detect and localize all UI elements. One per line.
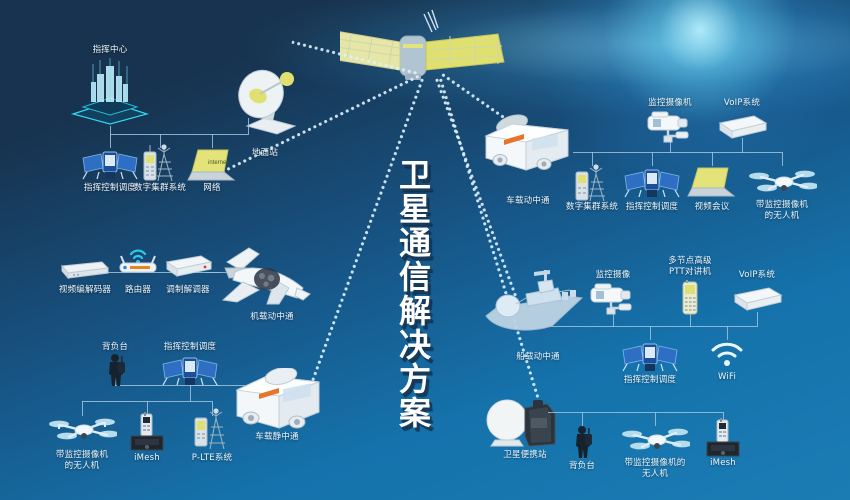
label-voip-mr: VoIP系统 bbox=[739, 270, 775, 281]
label-control-console-mr: 指挥控制调度 bbox=[624, 375, 676, 386]
cctv-camera-icon bbox=[642, 110, 698, 148]
label-control-console-tr: 指挥控制调度 bbox=[626, 202, 678, 213]
connector-tr-n3 bbox=[712, 152, 713, 166]
label-trunking-tr: 数字集群系统 bbox=[566, 202, 618, 213]
label-shipborne: 船载动中通 bbox=[516, 352, 560, 363]
laptop-icon bbox=[686, 166, 738, 202]
van-icon bbox=[223, 368, 331, 442]
command-center-icon bbox=[67, 58, 153, 130]
imesh-radio-icon bbox=[127, 412, 167, 456]
plte-tower-icon bbox=[190, 406, 234, 454]
label-airborne: 机载动中通 bbox=[250, 312, 294, 323]
connector-topright-bus bbox=[573, 152, 782, 153]
wifi-icon bbox=[709, 340, 745, 372]
drone-camera-icon bbox=[47, 412, 117, 450]
drone-camera-icon bbox=[747, 164, 817, 202]
connector-topleft-bus bbox=[110, 134, 248, 135]
drone-camera-icon bbox=[620, 422, 690, 460]
label-backpack-br: 背负台 bbox=[569, 461, 595, 472]
voip-box-icon bbox=[729, 284, 785, 318]
imesh-radio-icon bbox=[703, 418, 743, 462]
label-control-console-bl: 指挥控制调度 bbox=[164, 342, 216, 353]
video-codec-icon bbox=[58, 258, 112, 284]
router-icon bbox=[110, 245, 166, 279]
label-wifi: WiFi bbox=[718, 372, 736, 383]
label-ptt-radio: 多节点高级 PTT对讲机 bbox=[668, 256, 712, 278]
trunking-tower-icon bbox=[138, 142, 182, 186]
control-console-icon bbox=[79, 146, 141, 184]
label-cctv-tr: 监控摄像机 bbox=[648, 98, 692, 109]
title-char: 方 bbox=[386, 362, 444, 396]
label-portable-station: 卫星便携站 bbox=[503, 450, 547, 461]
control-console-icon bbox=[159, 352, 221, 390]
title-char: 卫 bbox=[386, 158, 444, 192]
label-cctv-mr: 监控摄像 bbox=[596, 270, 631, 281]
label-drone-br: 带监控摄像机的 无人机 bbox=[625, 458, 686, 480]
connector-mr-n2 bbox=[727, 326, 728, 340]
label-backpack-bl: 背负台 bbox=[102, 342, 128, 353]
title-char: 案 bbox=[386, 396, 444, 430]
title-char: 通 bbox=[386, 226, 444, 260]
title-char: 信 bbox=[386, 260, 444, 294]
label-comms-van: 车载动中通 bbox=[506, 196, 550, 207]
label-drone-tr: 带监控摄像机 的无人机 bbox=[756, 200, 808, 222]
title-char: 解 bbox=[386, 294, 444, 328]
label-drone-bl: 带监控摄像机 的无人机 bbox=[56, 450, 108, 472]
voip-box-icon bbox=[714, 112, 770, 146]
backpack-operator-icon bbox=[567, 424, 597, 462]
label-network-tl: 网络 bbox=[203, 183, 220, 194]
label-trunking-tl: 数字集群系统 bbox=[134, 183, 186, 194]
control-console-icon bbox=[619, 338, 681, 376]
satellite-icon bbox=[340, 8, 520, 90]
connector-topleft-n3 bbox=[212, 134, 213, 148]
connector-midright-bus bbox=[548, 326, 757, 327]
label-video-codec: 视频编解码器 bbox=[59, 285, 111, 296]
comms-van-icon bbox=[478, 112, 578, 184]
portable-satellite-icon bbox=[485, 398, 561, 456]
control-console-icon bbox=[621, 164, 683, 202]
laptop-internet-icon: internet bbox=[186, 148, 238, 186]
label-imesh-bl: iMesh bbox=[134, 453, 160, 464]
naval-ship-icon bbox=[482, 268, 588, 342]
title-char: 星 bbox=[386, 192, 444, 226]
ptt-radio-icon bbox=[678, 280, 702, 320]
label-voip-tr: VoIP系统 bbox=[724, 98, 760, 109]
label-command-center: 指挥中心 bbox=[93, 45, 128, 56]
label-ground-station: 地面站 bbox=[252, 148, 278, 159]
label-van-static: 车载静中通 bbox=[255, 432, 299, 443]
airplane-icon bbox=[207, 238, 317, 322]
label-control-console-tl: 指挥控制调度 bbox=[84, 183, 136, 194]
connector-topleft-dish-drop bbox=[248, 118, 249, 135]
label-imesh-br: iMesh bbox=[710, 458, 736, 469]
backpack-operator-icon bbox=[100, 352, 130, 390]
title-char: 决 bbox=[386, 328, 444, 362]
label-video-conference: 视频会议 bbox=[695, 202, 730, 213]
connector-botright-bus bbox=[548, 412, 723, 413]
diagram-canvas: 卫 星 通 信 解 决 方 案 指挥中心 bbox=[0, 0, 850, 500]
trunking-tower-icon bbox=[570, 162, 614, 206]
svg-text:internet: internet bbox=[208, 160, 228, 166]
page-title: 卫 星 通 信 解 决 方 案 bbox=[386, 158, 444, 430]
label-plte-bl: P-LTE系统 bbox=[192, 453, 233, 464]
label-router: 路由器 bbox=[125, 285, 151, 296]
cctv-camera-icon bbox=[585, 282, 641, 320]
label-modem: 调制解调器 bbox=[166, 285, 210, 296]
